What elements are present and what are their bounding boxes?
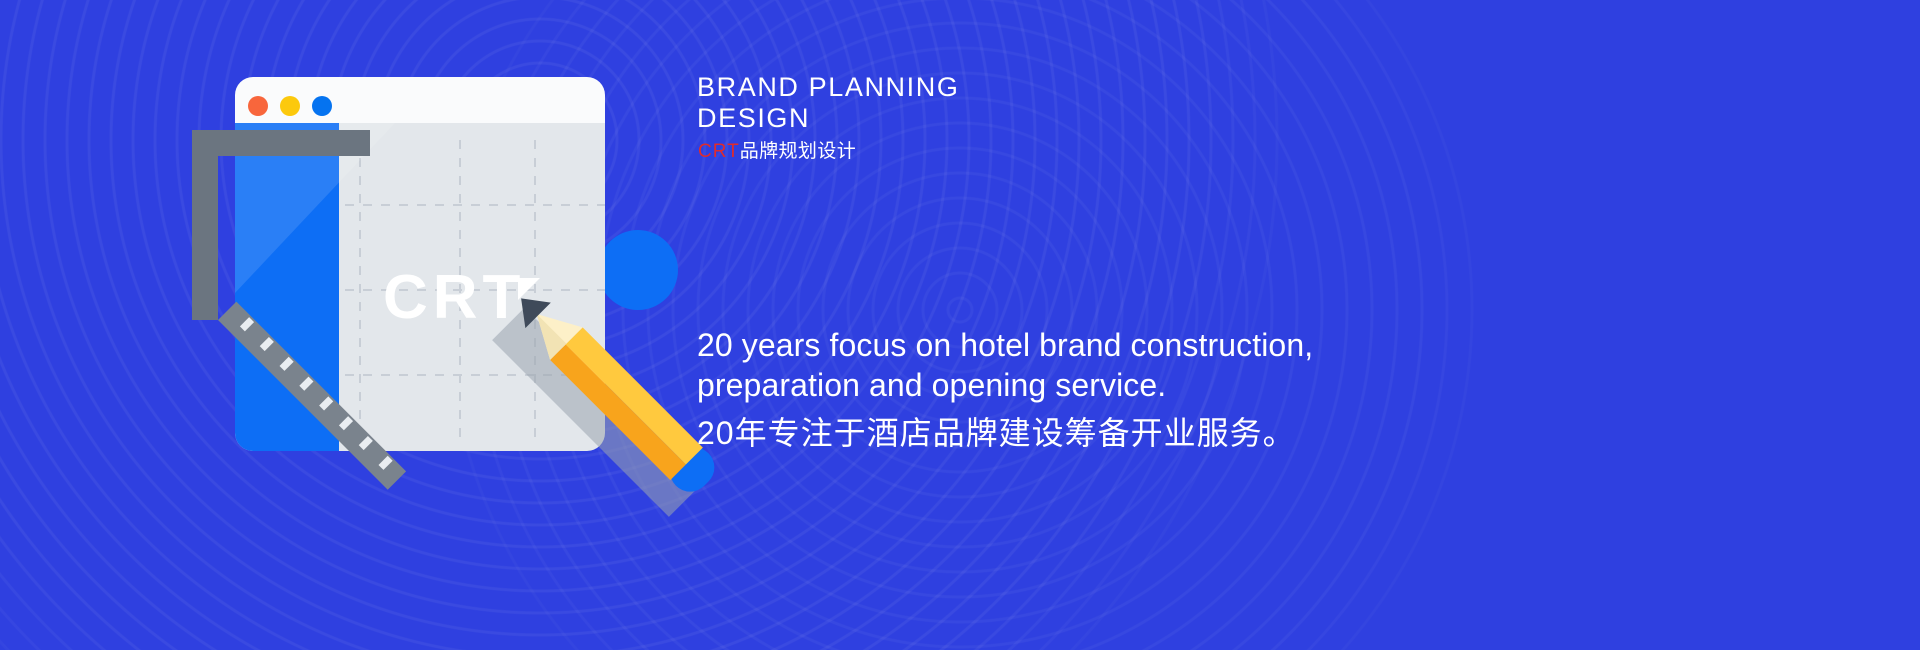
ruler-vertical-leg <box>192 130 218 320</box>
close-dot[interactable] <box>248 96 268 116</box>
window-controls[interactable] <box>248 96 332 116</box>
brand-banner: CRT <box>0 0 1920 650</box>
ruler-horizontal-leg <box>192 130 370 156</box>
banner-copy: BRAND PLANNING DESIGN CRT品牌规划设计 20 years… <box>697 0 1897 650</box>
tagline-english: 20 years focus on hotel brand constructi… <box>697 325 1397 405</box>
subtitle-brand: CRT <box>698 141 740 162</box>
tagline-chinese: 20年专注于酒店品牌建设筹备开业服务。 <box>697 412 1296 454</box>
minimize-dot[interactable] <box>280 96 300 116</box>
maximize-dot[interactable] <box>312 96 332 116</box>
banner-subtitle: CRT品牌规划设计 <box>698 140 856 164</box>
design-illustration: CRT <box>0 0 760 650</box>
banner-heading: BRAND PLANNING DESIGN <box>697 72 959 134</box>
subtitle-chinese: 品牌规划设计 <box>740 141 856 162</box>
pencil-eraser-circle <box>598 230 678 310</box>
